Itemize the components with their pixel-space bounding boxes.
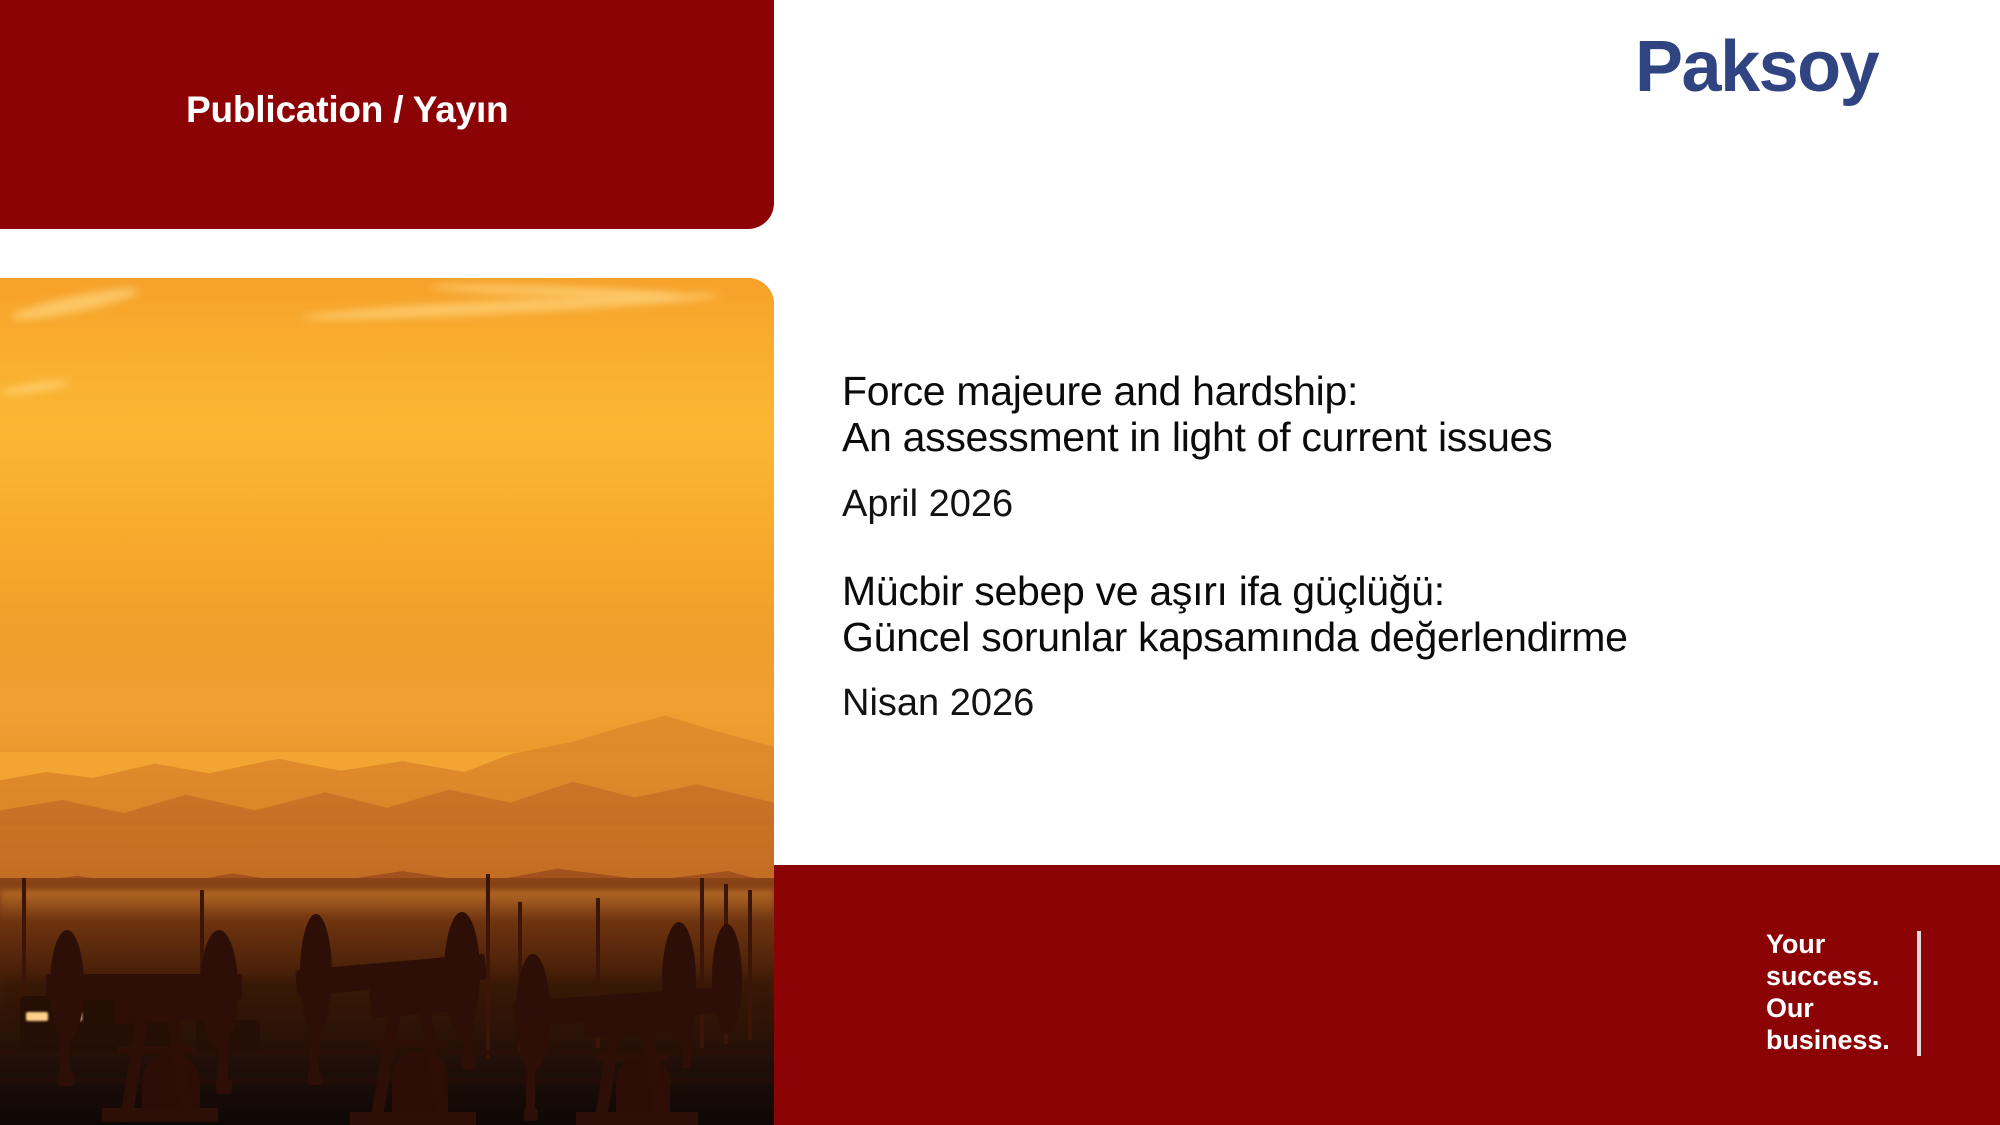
ribbon-label: Publication / Yayın [186, 89, 508, 131]
section-spacer [842, 526, 1882, 568]
pumpjack-icon [286, 936, 536, 1122]
horizon-glow [0, 890, 774, 920]
publication-cover-slide: Publication / Yayın [0, 0, 2000, 1125]
title-turkish: Mücbir sebep ve aşırı ifa güçlüğü: Günce… [842, 568, 1882, 661]
date-english: April 2026 [842, 483, 1882, 526]
publication-ribbon: Publication / Yayın [0, 0, 774, 229]
publication-details: Force majeure and hardship: An assessmen… [842, 368, 1882, 725]
date-turkish: Nisan 2026 [842, 682, 1882, 725]
paksoy-logo: Paksoy [1635, 31, 1878, 103]
hero-image-panel [0, 278, 774, 1125]
pumpjack-icon [18, 926, 268, 1116]
pumpjack-icon [506, 930, 766, 1122]
title-english: Force majeure and hardship: An assessmen… [842, 368, 1882, 461]
tagline-divider [1917, 931, 1921, 1056]
brand-tagline: Your success. Our business. [1766, 929, 1890, 1056]
